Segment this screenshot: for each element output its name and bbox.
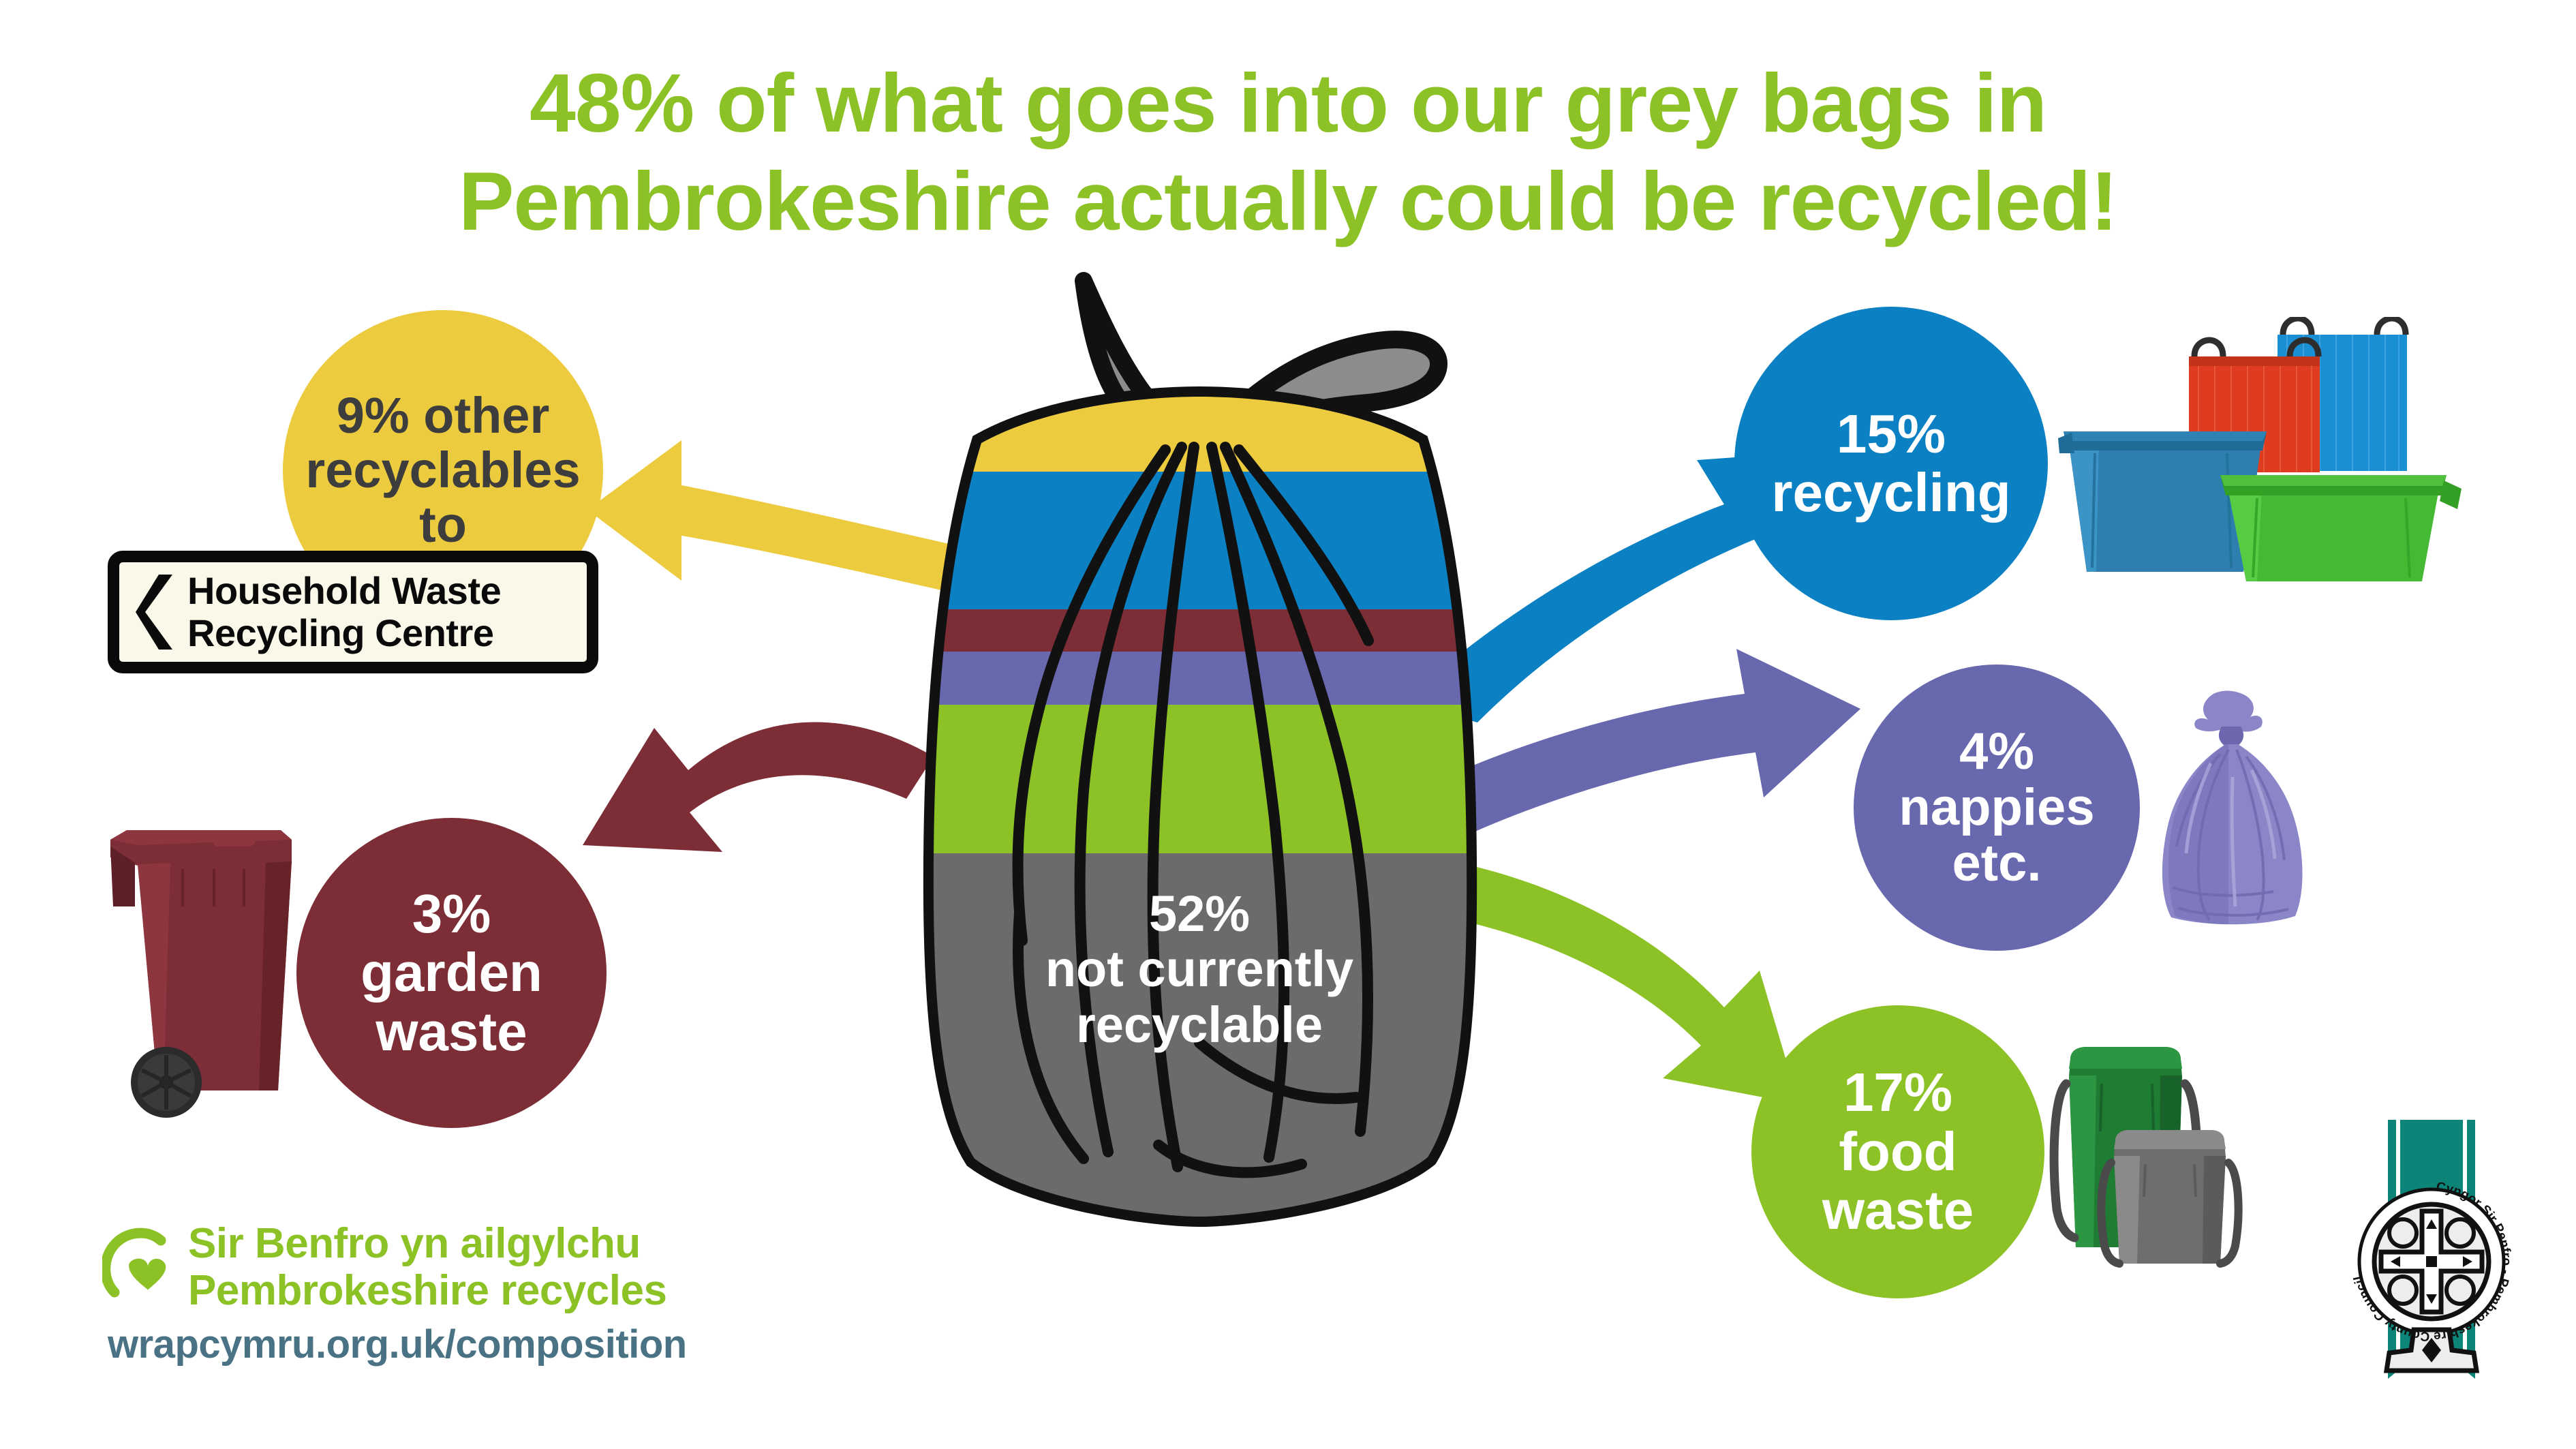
nappies-label-1: nappies	[1899, 778, 2094, 836]
brand-url[interactable]: wrapcymru.org.uk/composition	[108, 1323, 852, 1367]
food-waste-percent: 17%	[1843, 1062, 1952, 1123]
pembrokeshire-county-council-logo: Cyngor Sir Penfro - Pembrokeshire County…	[2329, 1108, 2534, 1394]
title-line-2: Pembrokeshire actually could be recycled…	[0, 153, 2576, 251]
garden-waste-label-1: garden	[361, 942, 542, 1003]
other-recyclables-percent: 9%	[337, 387, 410, 444]
segment-recycling[interactable]: 15% recycling	[1734, 307, 2048, 620]
household-waste-recycling-centre-sign[interactable]: Household Waste Recycling Centre	[108, 551, 598, 673]
recycle-heart-icon	[102, 1227, 179, 1303]
band-recycling	[906, 472, 1506, 609]
bag-composition-bands	[906, 388, 1506, 1235]
grey-kitchen-caddy	[2101, 1130, 2238, 1264]
nappies-label-2: etc.	[1952, 834, 2042, 892]
nappies-percent: 4%	[1959, 722, 2034, 780]
food-waste-caddies-icon	[2031, 1043, 2269, 1275]
brown-wheelie-bin-icon	[95, 804, 300, 1118]
other-recyclables-label-3: to	[419, 496, 467, 553]
sign-line-2: Recycling Centre	[187, 612, 501, 654]
band-food-waste	[906, 705, 1506, 853]
title-line-1: 48% of what goes into our grey bags in	[0, 55, 2576, 153]
sign-line-1: Household Waste	[187, 570, 501, 612]
green-recycling-box	[2220, 475, 2462, 581]
other-recyclables-label-2: recyclables	[305, 442, 580, 498]
segment-garden-waste[interactable]: 3% garden waste	[296, 818, 607, 1128]
left-chevron-icon	[136, 572, 178, 652]
purple-refuse-bag-icon	[2133, 688, 2331, 934]
band-nappies	[906, 652, 1506, 705]
logo-celtic-cross: Cyngor Sir Penfro - Pembrokeshire County…	[2351, 1180, 2513, 1371]
recycling-boxes-icon	[2058, 317, 2487, 583]
other-recyclables-label-1: other	[423, 387, 549, 444]
garden-waste-label-2: waste	[375, 1001, 527, 1062]
brand-english: Pembrokeshire recycles	[188, 1267, 666, 1314]
food-waste-label-2: waste	[1822, 1180, 1974, 1240]
grey-bag-illustration: 52% not currently recyclable	[879, 245, 1520, 1268]
segment-food-waste[interactable]: 17% food waste	[1751, 1005, 2044, 1298]
food-waste-label-1: food	[1839, 1121, 1957, 1182]
garden-waste-percent: 3%	[412, 883, 491, 944]
page-title: 48% of what goes into our grey bags in P…	[0, 55, 2576, 251]
branding-block: Sir Benfro yn ailgylchu Pembrokeshire re…	[102, 1220, 852, 1367]
recycling-label-1: recycling	[1771, 462, 2010, 523]
brand-welsh: Sir Benfro yn ailgylchu	[188, 1220, 666, 1267]
recycling-percent: 15%	[1837, 403, 1946, 464]
band-garden-waste	[906, 609, 1506, 652]
segment-nappies[interactable]: 4% nappies etc.	[1854, 665, 2140, 951]
